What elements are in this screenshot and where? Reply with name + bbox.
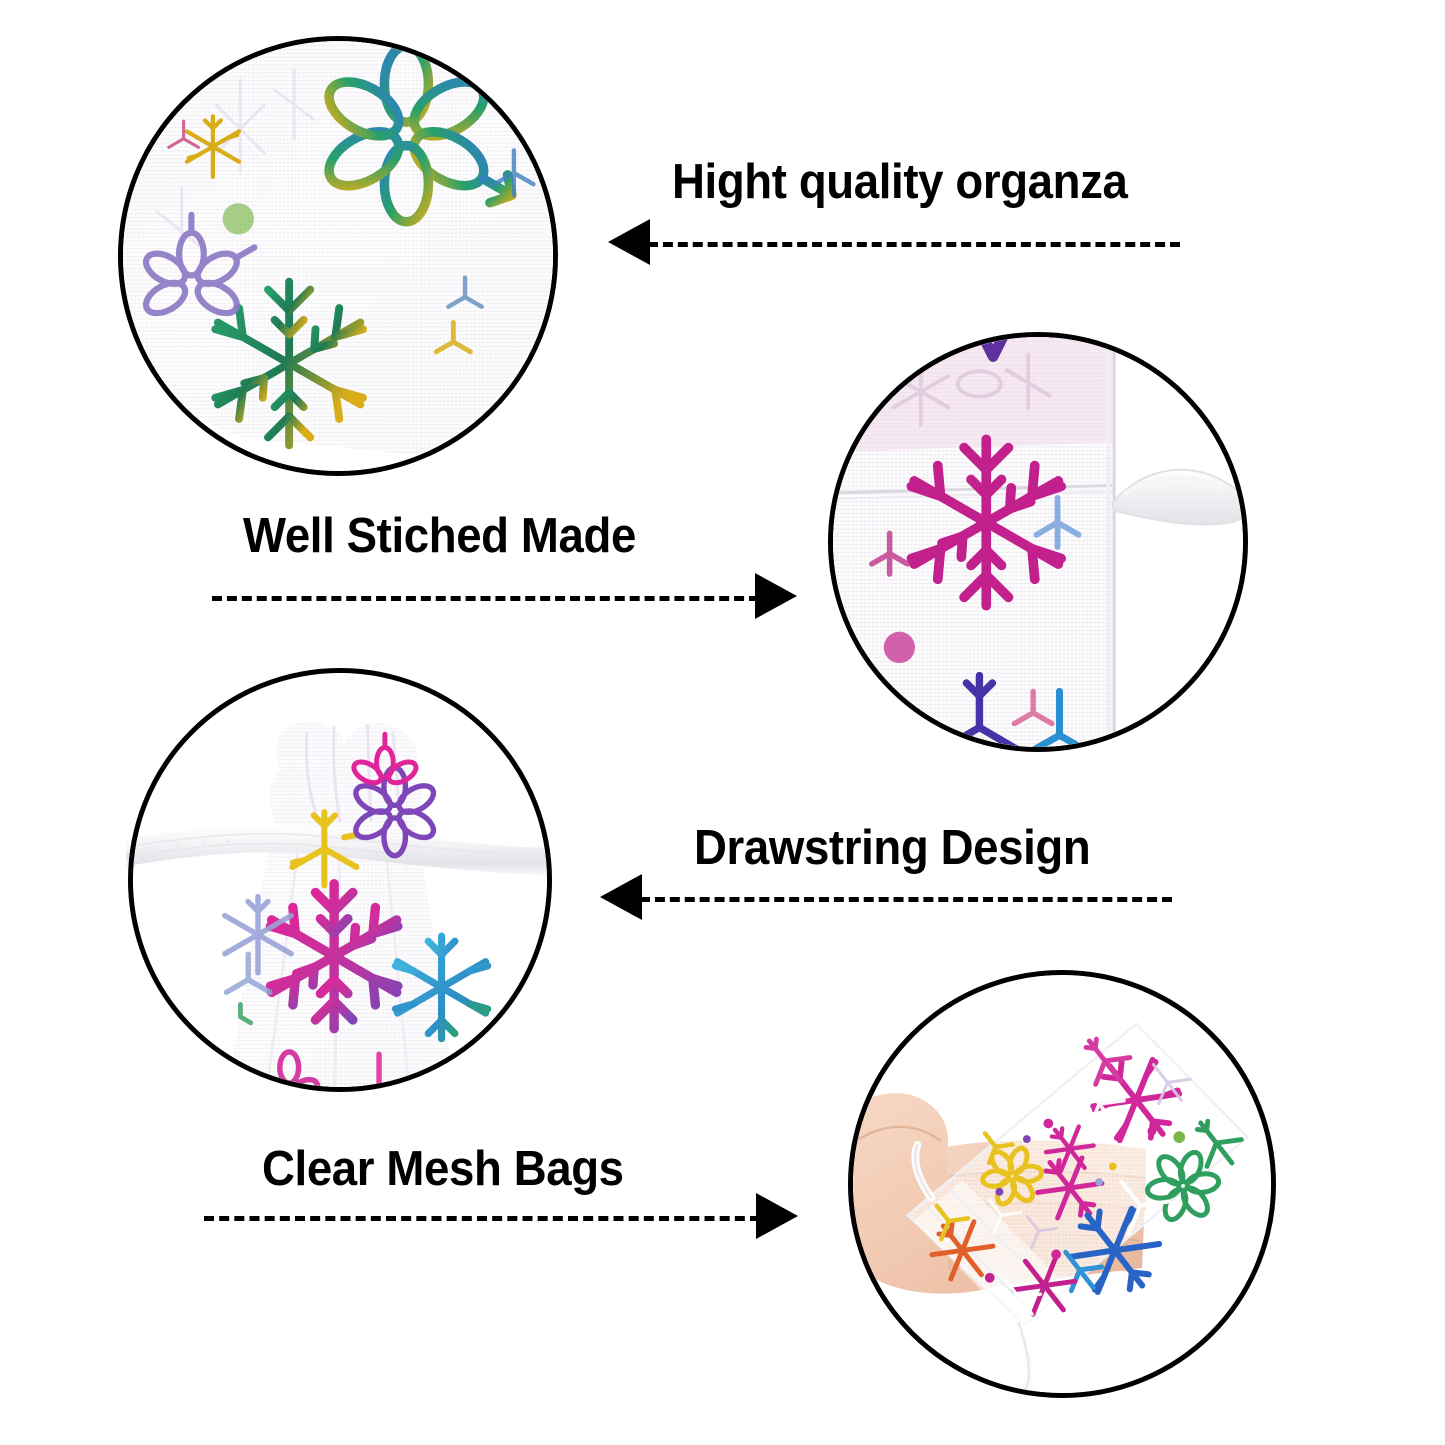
feature-photo-clear-mesh-bags (848, 970, 1276, 1398)
feature-arrow-high-quality-organza (608, 218, 1180, 266)
arrow-left-icon (600, 874, 642, 920)
organza-fabric-closeup-illustration (123, 41, 553, 471)
feature-label-high-quality-organza: Hight quality organza (672, 158, 1128, 207)
arrow-right-icon (756, 1193, 798, 1239)
photo-inner-3 (133, 673, 547, 1087)
arrow-left-icon (608, 219, 650, 265)
arrow-right-icon (755, 573, 797, 619)
drawstring-pouch-illustration (133, 673, 547, 1087)
arrow-dashed-line (212, 596, 759, 601)
stitched-seam-closeup-illustration (833, 337, 1243, 747)
feature-label-drawstring-design: Drawstring Design (694, 824, 1090, 873)
arrow-dashed-line (648, 242, 1180, 247)
feature-photo-drawstring-design (128, 668, 552, 1092)
photo-inner-1 (123, 41, 553, 471)
feature-arrow-well-stitched-made (212, 572, 797, 620)
infographic-page: Hight quality organza (0, 0, 1445, 1445)
feature-photo-high-quality-organza (118, 36, 558, 476)
feature-arrow-drawstring-design (600, 873, 1172, 921)
feature-photo-well-stitched-made (828, 332, 1248, 752)
arrow-dashed-line (204, 1216, 760, 1221)
feature-label-well-stitched-made: Well Stiched Made (243, 512, 636, 561)
feature-arrow-clear-mesh-bags (204, 1192, 798, 1240)
photo-inner-4 (853, 975, 1271, 1393)
feature-label-clear-mesh-bags: Clear Mesh Bags (262, 1145, 624, 1194)
photo-inner-2 (833, 337, 1243, 747)
hand-holding-clear-mesh-bag-illustration (853, 975, 1271, 1393)
arrow-dashed-line (640, 897, 1172, 902)
